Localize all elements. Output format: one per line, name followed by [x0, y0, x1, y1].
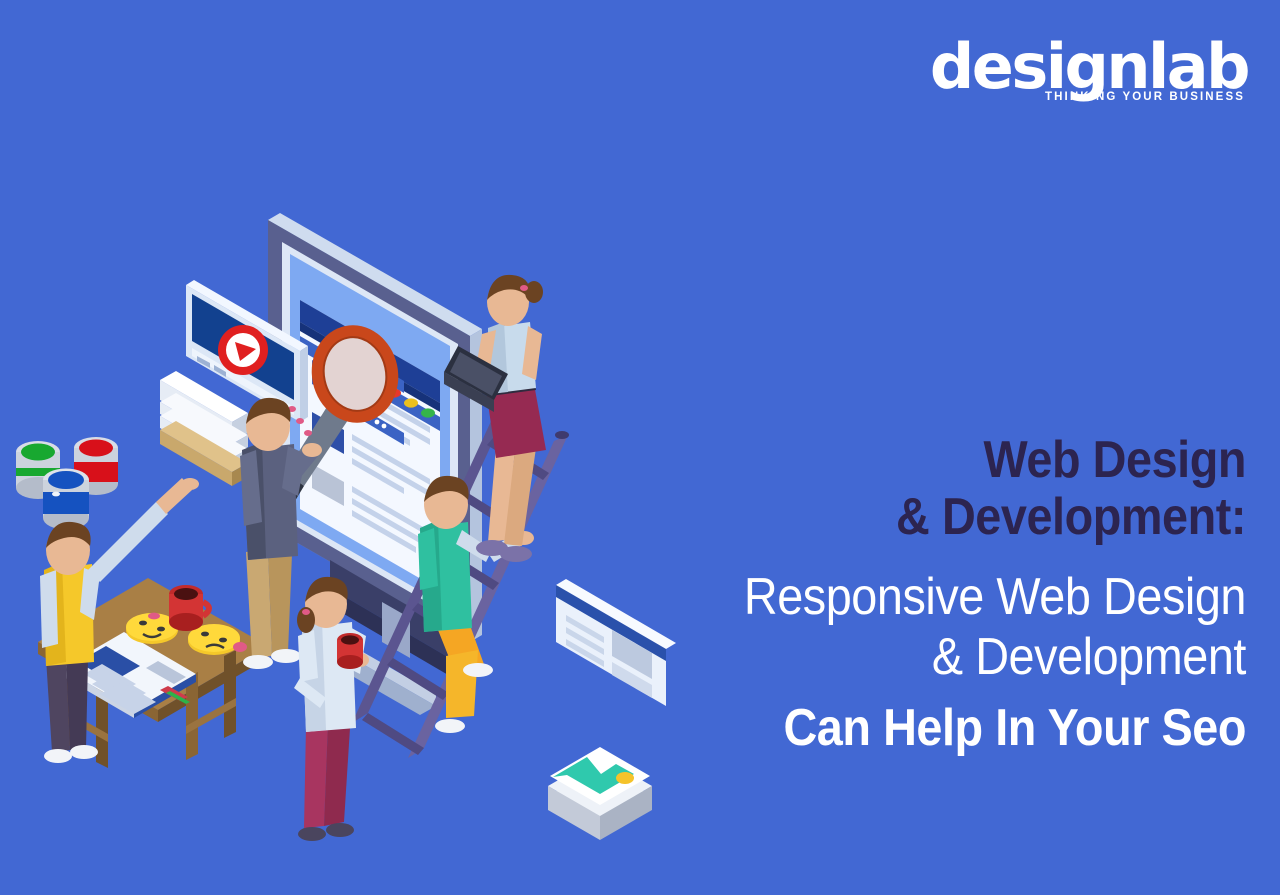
play-button-icon: [218, 325, 268, 375]
subhead-line-2: & Development: [688, 628, 1246, 687]
banner-root: designlab THINKING YOUR BUSINESS Web Des…: [0, 0, 1280, 895]
headline-line-2: & Development:: [688, 489, 1246, 546]
held-mug: [337, 633, 363, 669]
subhead-line-1: Responsive Web Design: [688, 568, 1246, 627]
headline-line-1: Web Design: [688, 432, 1246, 489]
paper-stack-pallet: [160, 371, 248, 486]
photo-stack: [548, 747, 652, 840]
isometric-illustration: [0, 150, 720, 890]
subhead-line-3: Can Help In Your Seo: [688, 699, 1246, 758]
paint-cans: [16, 437, 118, 530]
brand-logo: designlab THINKING YOUR BUSINESS: [930, 38, 1248, 103]
floating-content-card: [556, 579, 676, 706]
brand-name: designlab: [930, 38, 1248, 97]
